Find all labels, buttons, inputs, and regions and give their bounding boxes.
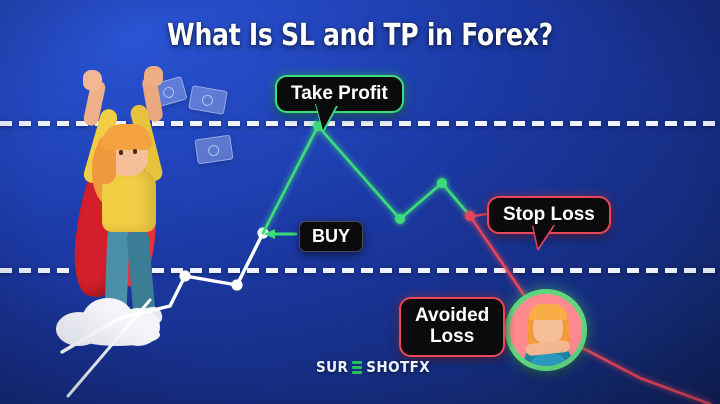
- take-profit-callout[interactable]: Take Profit: [275, 75, 404, 113]
- take-profit-callout-tail: [316, 104, 337, 130]
- infographic-canvas: What Is SL and TP in Forex?: [0, 0, 720, 404]
- brand-logo-right: SHOTFX: [366, 358, 430, 376]
- series-profit-run: [263, 121, 470, 233]
- avatar: [505, 289, 587, 371]
- brand-logo-left: SUR: [316, 358, 348, 376]
- stop-loss-connector: [474, 214, 487, 216]
- buy-callout[interactable]: BUY: [299, 221, 363, 252]
- stop-loss-callout-tail: [533, 224, 554, 248]
- logo-bars-icon: [352, 361, 362, 374]
- avoided-loss-callout[interactable]: Avoided Loss: [399, 297, 505, 357]
- buy-arrow-icon: [264, 229, 296, 239]
- brand-logo[interactable]: SUR SHOTFX: [316, 358, 430, 376]
- price-chart: [0, 0, 720, 404]
- series-pre-entry: [62, 227, 269, 396]
